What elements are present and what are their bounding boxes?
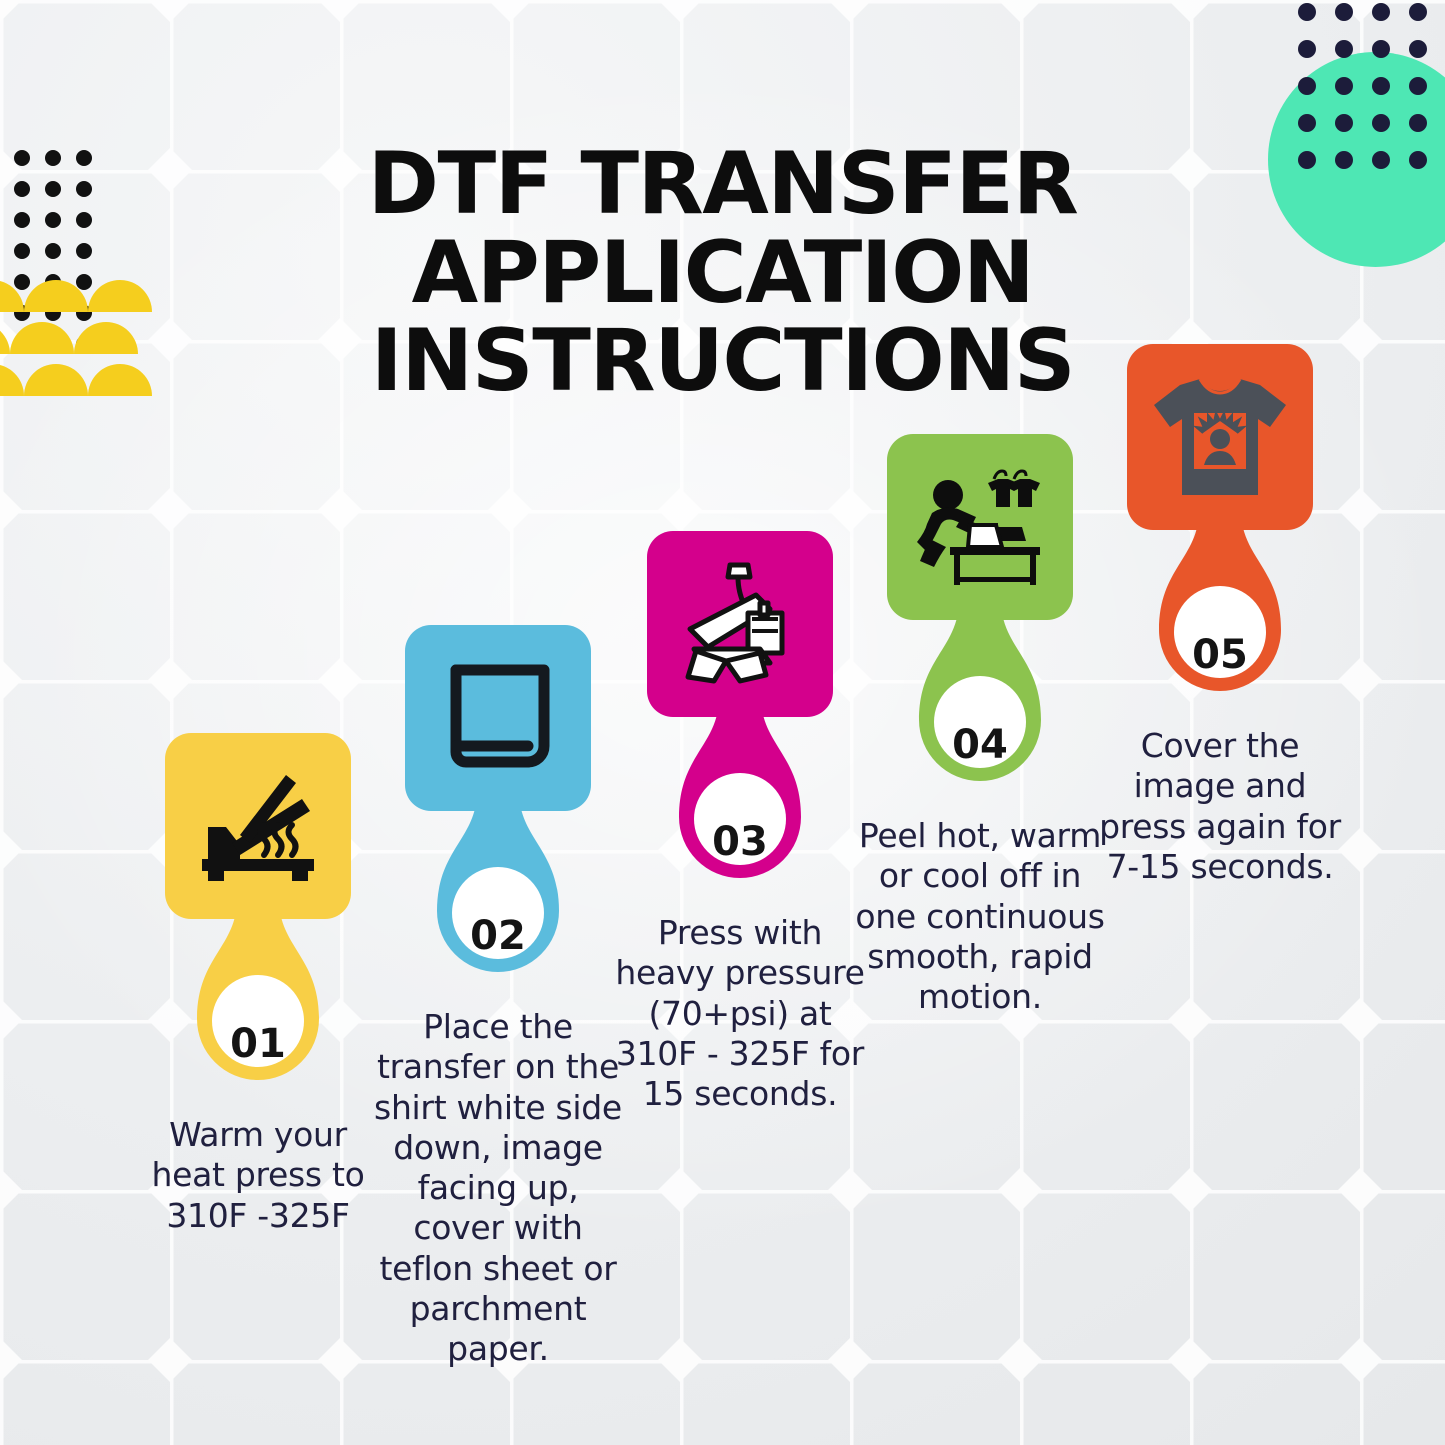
step-01-icon-card[interactable] bbox=[165, 733, 351, 919]
step-01-caption: Warm your heat press to 310F -325F bbox=[133, 1115, 383, 1236]
step-02-pin: 02 bbox=[373, 809, 623, 1001]
peel-transfer-person-icon bbox=[910, 465, 1050, 589]
step-03-caption: Press with heavy pressure (70+psi) at 31… bbox=[615, 913, 865, 1114]
step-05-pin: 05 bbox=[1095, 528, 1345, 720]
heat-press-open-icon bbox=[194, 767, 322, 885]
infographic-canvas: DTF TRANSFER APPLICATION INSTRUCTIONS bbox=[0, 0, 1445, 1445]
step-04-number: 04 bbox=[855, 722, 1105, 768]
step-05-caption: Cover the image and press again for 7-15… bbox=[1095, 726, 1345, 887]
step-05-number: 05 bbox=[1095, 632, 1345, 678]
step-01-number: 01 bbox=[133, 1021, 383, 1067]
step-04-pin: 04 bbox=[855, 618, 1105, 810]
step-01-pin: 01 bbox=[133, 917, 383, 1109]
step-04-caption: Peel hot, warm or cool off in one contin… bbox=[855, 816, 1105, 1017]
heat-press-machine-icon bbox=[674, 559, 806, 689]
step-item-04[interactable]: 04 Peel hot, warm or cool off in one con… bbox=[855, 434, 1105, 1017]
step-03-icon-card[interactable] bbox=[647, 531, 833, 717]
step-03-number: 03 bbox=[615, 819, 865, 865]
printed-tshirt-icon bbox=[1150, 371, 1290, 503]
step-03-pin: 03 bbox=[615, 715, 865, 907]
step-02-caption: Place the transfer on the shirt white si… bbox=[373, 1007, 623, 1369]
step-item-02[interactable]: 02 Place the transfer on the shirt white… bbox=[373, 625, 623, 1369]
transfer-sheet-icon bbox=[438, 660, 558, 776]
step-item-01[interactable]: 01 Warm your heat press to 310F -325F bbox=[133, 733, 383, 1236]
step-05-icon-card[interactable] bbox=[1127, 344, 1313, 530]
step-02-icon-card[interactable] bbox=[405, 625, 591, 811]
step-02-number: 02 bbox=[373, 913, 623, 959]
step-item-03[interactable]: 03 Press with heavy pressure (70+psi) at… bbox=[615, 531, 865, 1114]
step-04-icon-card[interactable] bbox=[887, 434, 1073, 620]
steps-container: 01 Warm your heat press to 310F -325F bbox=[0, 0, 1445, 1445]
step-item-05[interactable]: 05 Cover the image and press again for 7… bbox=[1095, 344, 1345, 887]
